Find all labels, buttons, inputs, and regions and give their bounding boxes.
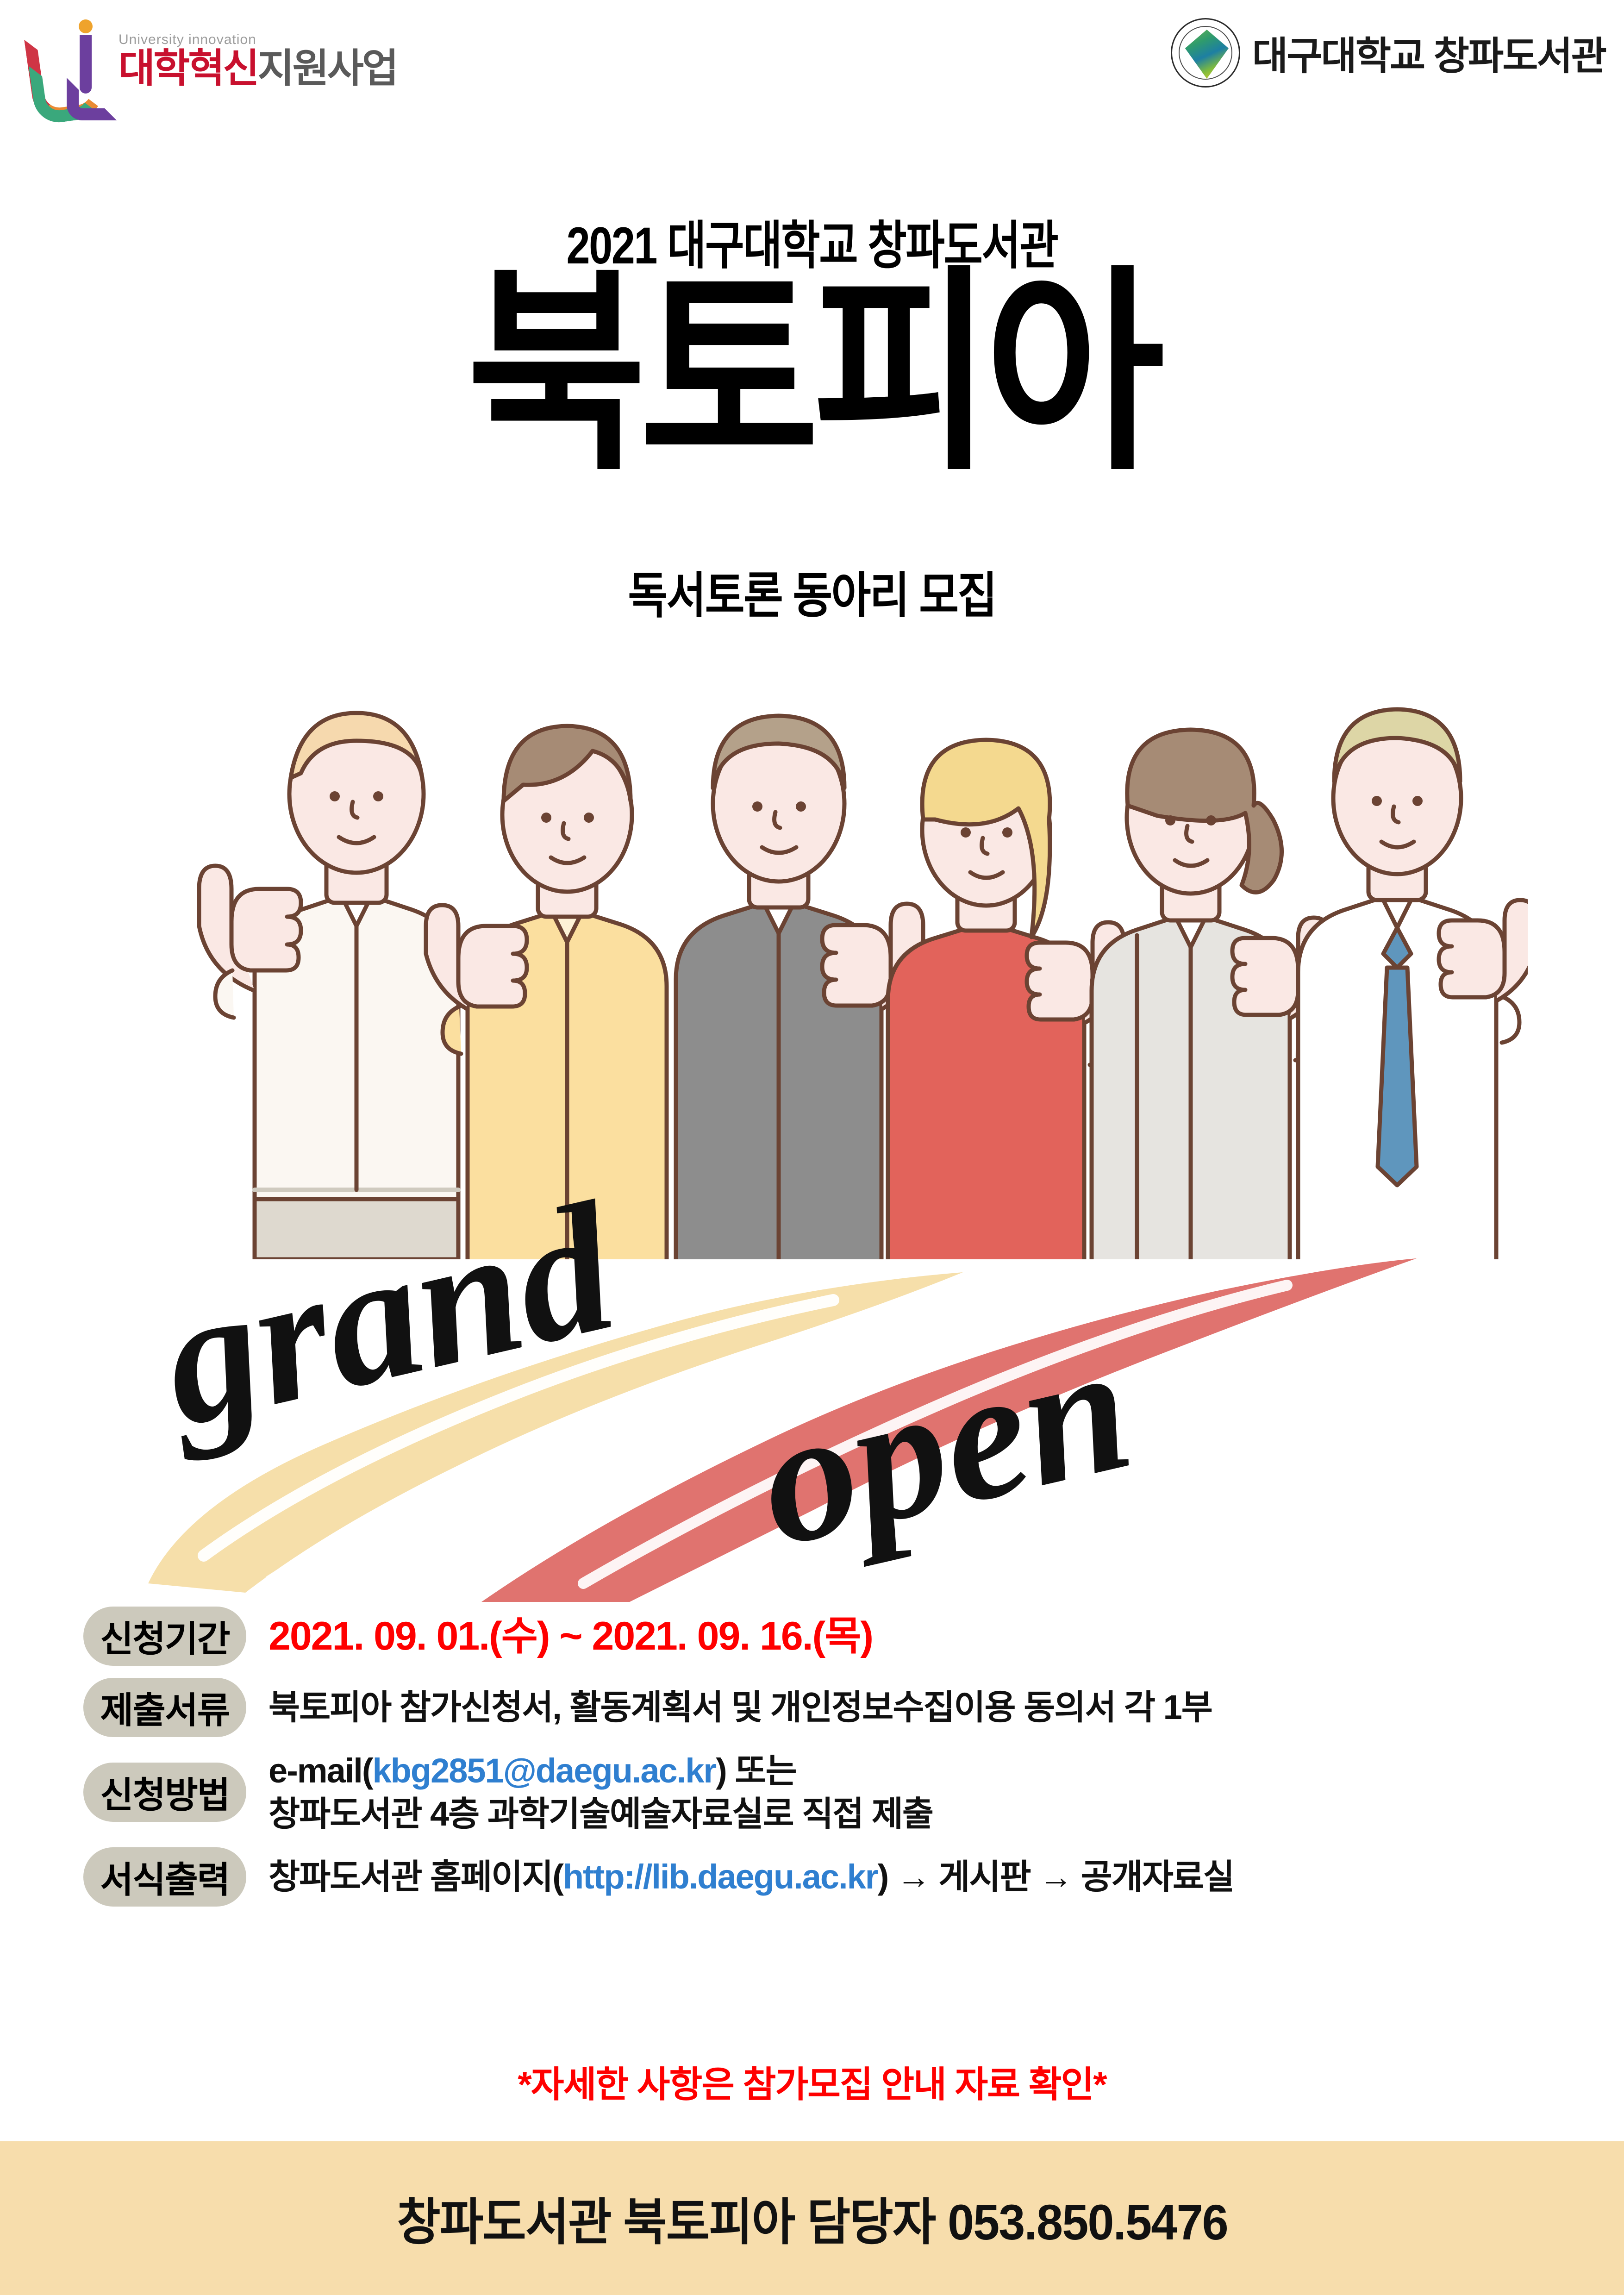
library-name: 대구대학교 창파도서관 [1252,25,1605,81]
page-title: 북토피아 [81,259,1543,488]
info-row-application-method: 신청방법 e-mail(kbg2851@daegu.ac.kr) 또는 창파도서… [83,1749,1555,1835]
email-link[interactable]: kbg2851@daegu.ac.kr [373,1751,716,1790]
info-row-required-documents: 제출서류 북토피아 참가신청서, 활동계획서 및 개인정보수집이용 동의서 각 … [83,1678,1555,1737]
info-label-application-period: 신청기간 [83,1607,246,1666]
info-label-required-documents: 제출서류 [83,1678,246,1737]
poster-root: University innovation 대학혁신지원사업 대구대학교 창파도… [0,0,1624,2295]
logo-kor-name: 대학혁신지원사업 [119,49,397,88]
six-people-thumbs-up-illustration [116,602,1528,1259]
info-row-application-period: 신청기간 2021. 09. 01.(수) ~ 2021. 09. 16.(목) [83,1607,1555,1666]
grand-open-brush-art: grand open [130,1185,1518,1602]
info-value-application-period: 2021. 09. 01.(수) ~ 2021. 09. 16.(목) [269,1612,873,1661]
homepage-link[interactable]: http://lib.daegu.ac.kr [563,1857,878,1896]
application-method-line-2: 창파도서관 4층 과학기술예술자료실로 직접 제출 [269,1792,933,1835]
uj-logo-mark [28,19,106,102]
footer-contact: 창파도서관 북토피아 담당자 053.850.5476 [397,2182,1228,2254]
homepage-suffix: ) → 게시판 → 공개자료실 [878,1857,1234,1896]
info-value-required-documents: 북토피아 참가신청서, 활동계획서 및 개인정보수집이용 동의서 각 1부 [269,1687,1212,1728]
info-label-form-download: 서식출력 [83,1847,246,1907]
email-suffix: ) 또는 [716,1751,796,1790]
info-row-form-download: 서식출력 창파도서관 홈페이지(http://lib.daegu.ac.kr) … [83,1847,1555,1907]
notice-text: *자세한 사항은 참가모집 안내 자료 확인* [0,2056,1624,2107]
info-label-application-method: 신청방법 [83,1763,246,1822]
application-method-line-1: e-mail(kbg2851@daegu.ac.kr) 또는 [269,1749,933,1792]
brush-word-open: open [741,1302,1148,1586]
logo-kor-red: 대학혁신 [119,46,257,91]
library-logo: 대구대학교 창파도서관 [1171,6,1605,99]
homepage-prefix: 창파도서관 홈페이지( [269,1857,563,1896]
info-value-form-download: 창파도서관 홈페이지(http://lib.daegu.ac.kr) → 게시판… [269,1856,1234,1898]
info-table: 신청기간 2021. 09. 01.(수) ~ 2021. 09. 16.(목)… [83,1607,1555,1919]
university-innovation-logo: University innovation 대학혁신지원사업 [28,9,491,111]
email-prefix: e-mail( [269,1751,373,1790]
info-value-application-method: e-mail(kbg2851@daegu.ac.kr) 또는 창파도서관 4층 … [269,1749,933,1835]
logo-kor-gray: 지원사업 [257,46,396,91]
daegu-university-emblem [1171,18,1240,88]
footer-bar: 창파도서관 북토피아 담당자 053.850.5476 [0,2141,1624,2295]
logo-eng-tagline: University innovation [119,32,397,48]
